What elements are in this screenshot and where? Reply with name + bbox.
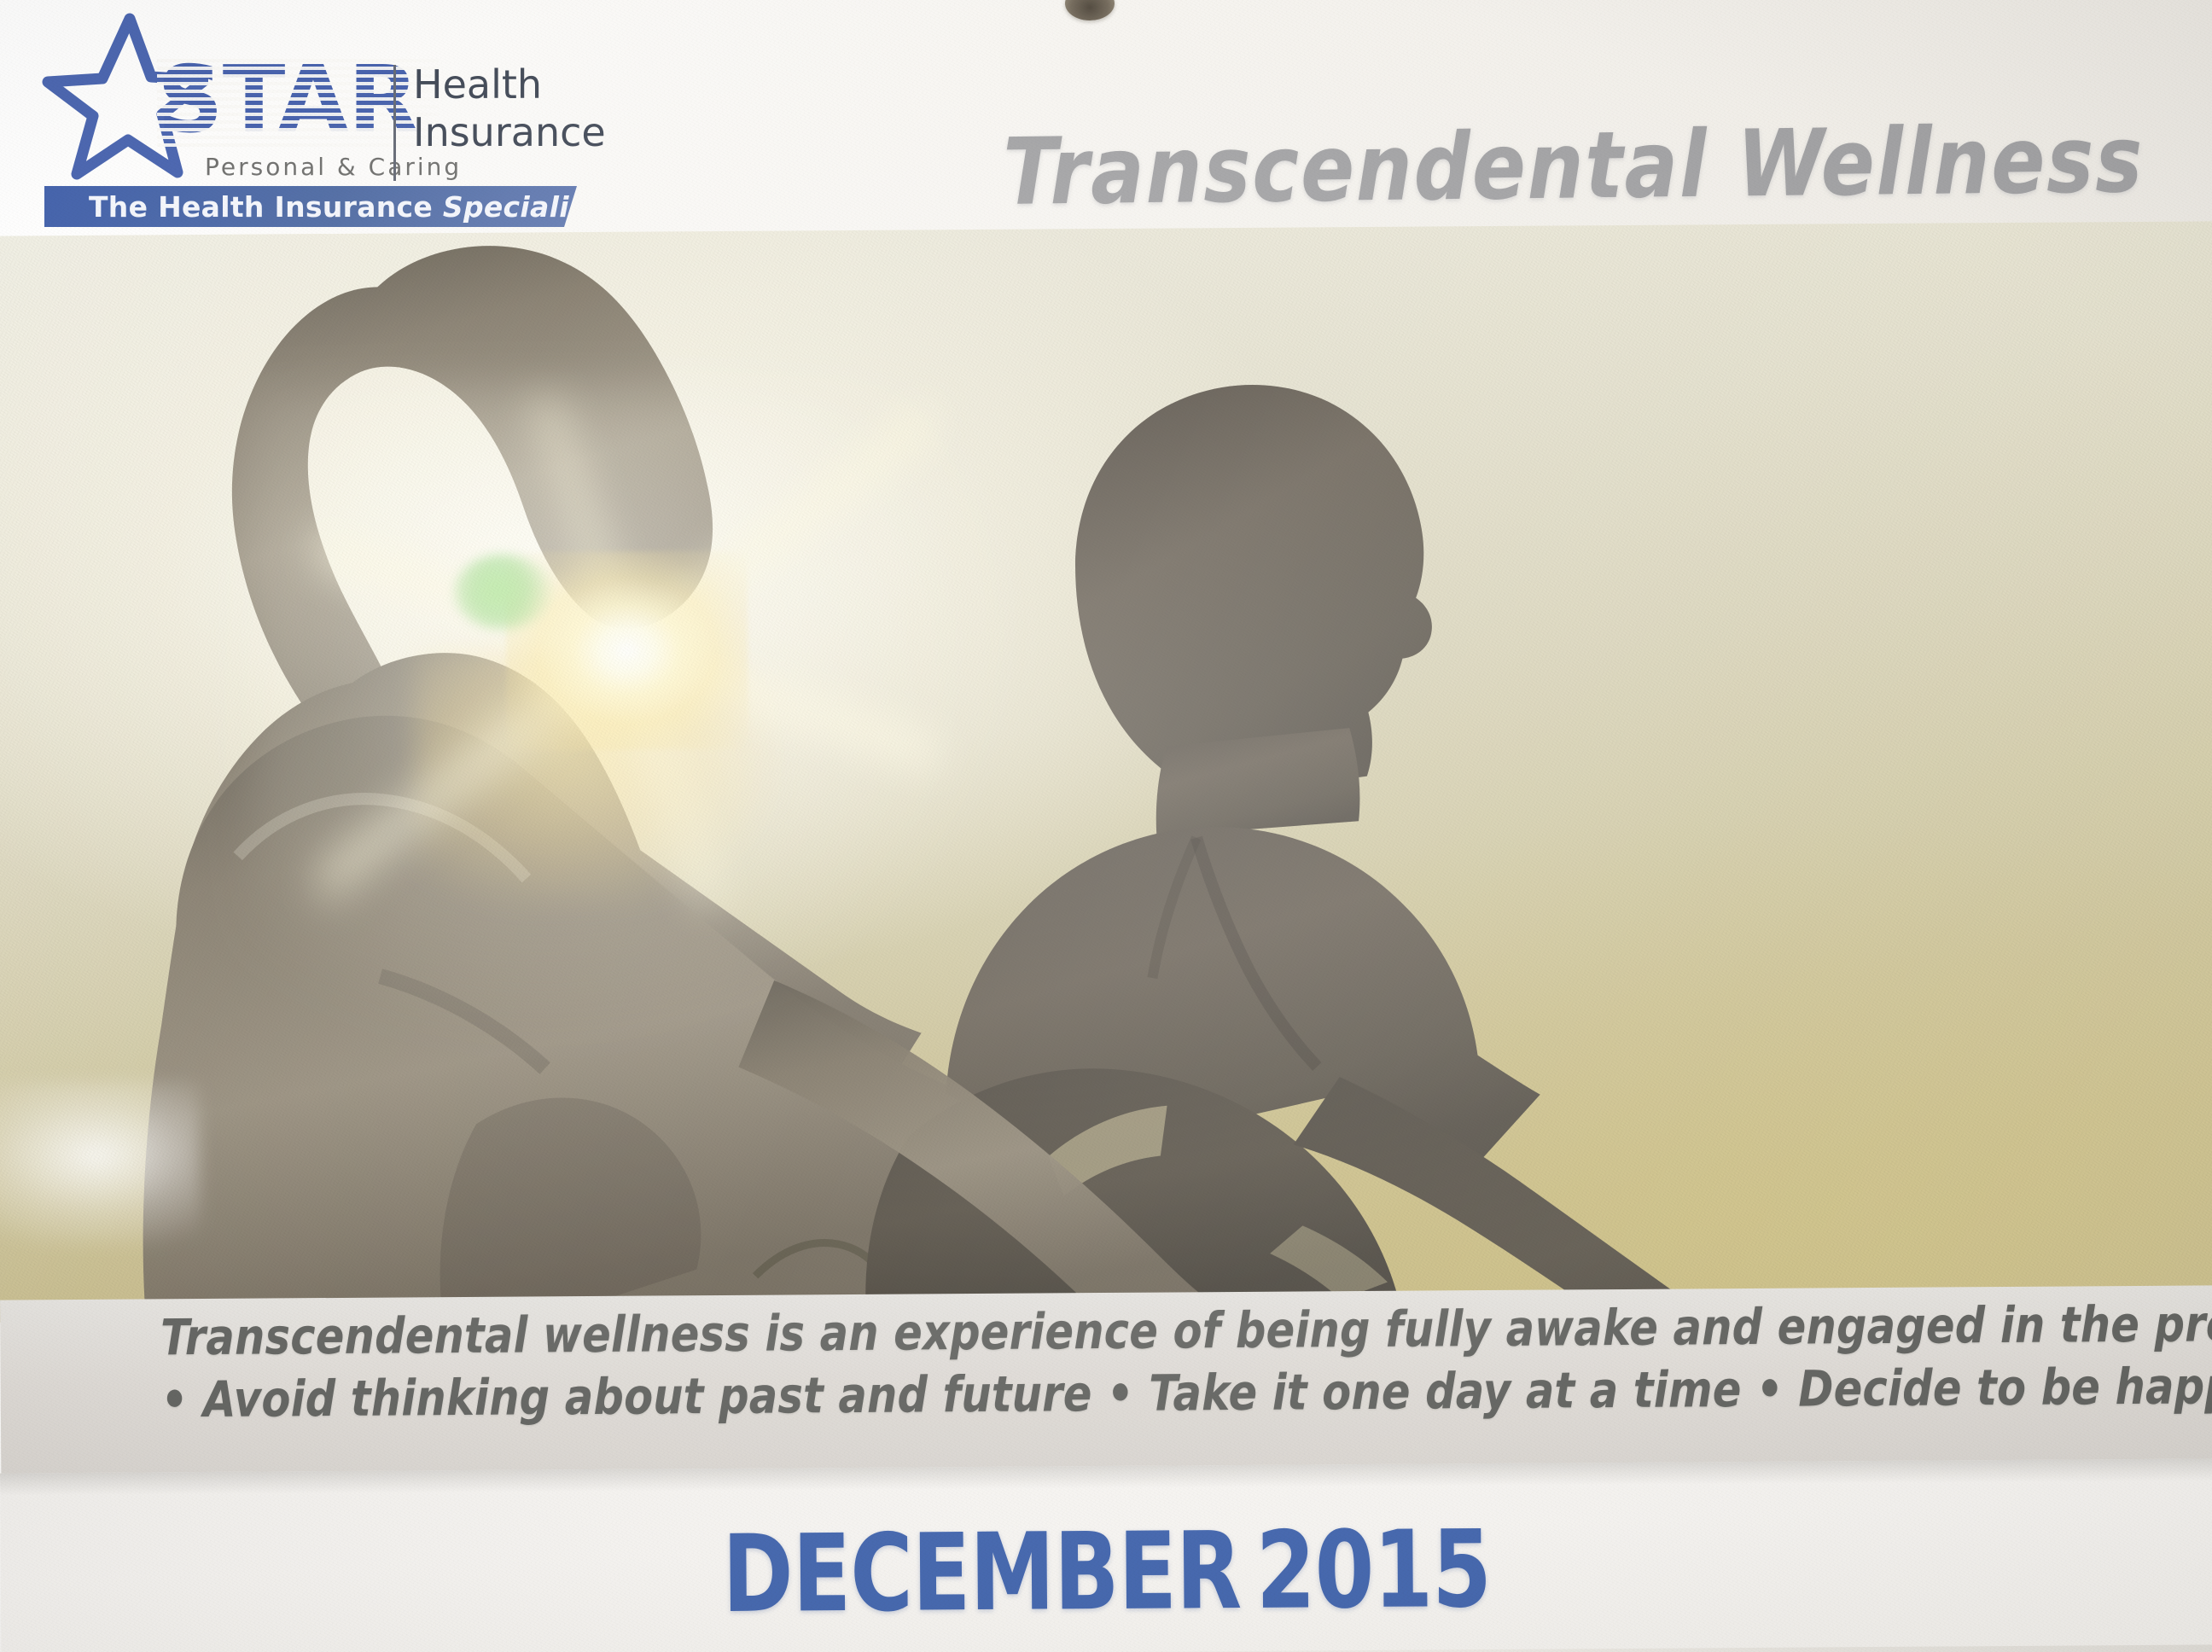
calendar-header: STAR Personal & Caring Health Insurance …: [0, 0, 2212, 256]
logo-specialist-banner: The Health Insurance Specialist: [44, 186, 577, 227]
month-band: DECEMBER2015: [0, 1458, 2212, 1652]
logo-tagline: Personal & Caring: [205, 153, 462, 181]
logo-divider: [393, 65, 396, 181]
page-title: Transcendental Wellness: [1003, 107, 2144, 226]
star-health-insurance-logo: STAR Personal & Caring Health Insurance …: [29, 10, 575, 215]
calendar-page: STAR Personal & Caring Health Insurance …: [0, 0, 2212, 1652]
green-lens-flare: [453, 554, 550, 631]
logo-specialist-banner-text: The Health Insurance Specialist: [89, 190, 600, 224]
banner-emphasis: Specialist: [443, 190, 600, 224]
month-title: DECEMBER2015: [222, 1504, 1993, 1640]
caption-band: Transcendental wellness is an experience…: [0, 1285, 2212, 1489]
logo-insurance-text: Insurance: [413, 111, 606, 155]
caption-line-2: • Avoid thinking about past and future •…: [160, 1356, 2052, 1433]
cover-photograph: [0, 221, 2212, 1322]
logo-wordmark: STAR: [157, 55, 418, 147]
month-name: DECEMBER: [722, 1509, 1242, 1637]
month-year: 2015: [1255, 1508, 1491, 1633]
banner-prefix: The Health Insurance: [89, 190, 443, 224]
logo-health-text: Health: [413, 63, 542, 108]
binding-hole-icon: [1065, 0, 1115, 20]
